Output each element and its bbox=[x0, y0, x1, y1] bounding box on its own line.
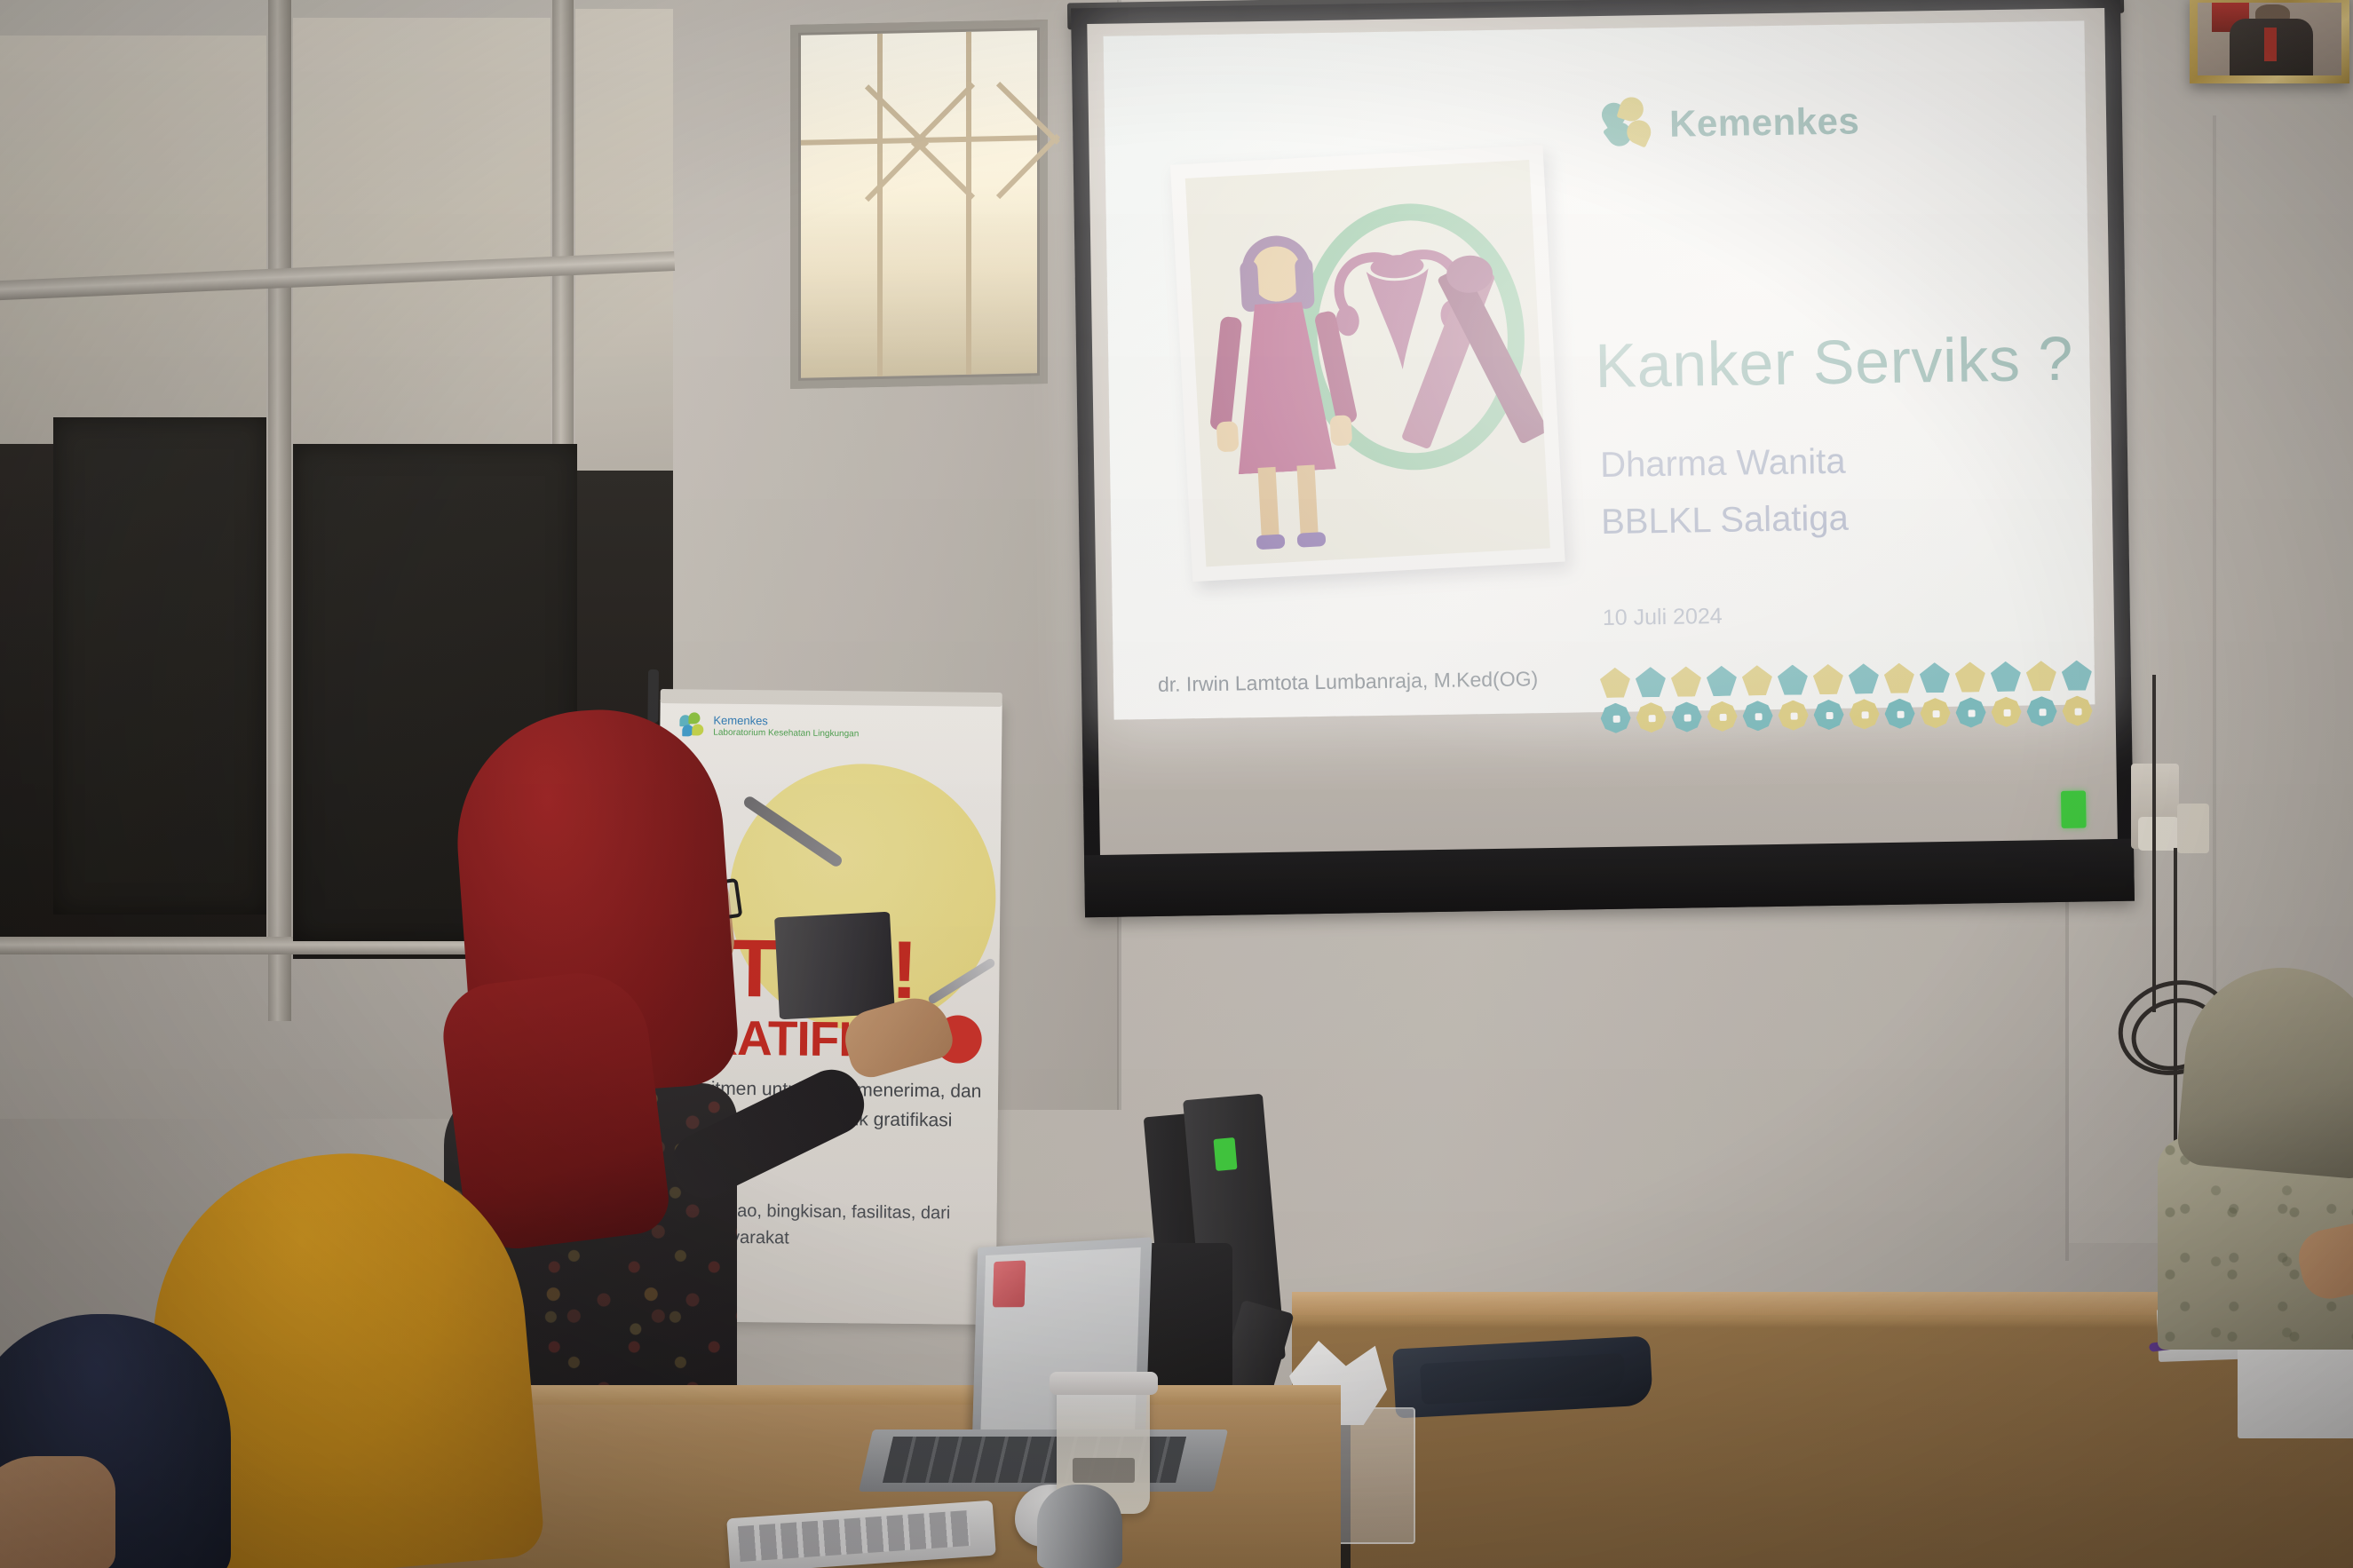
batik-motif bbox=[1707, 666, 1738, 697]
attendee-right bbox=[2158, 968, 2353, 1341]
illustration-canvas bbox=[1185, 160, 1550, 566]
batik-motif bbox=[1920, 662, 1951, 693]
woman-hand bbox=[1216, 421, 1240, 452]
batik-motif bbox=[2026, 661, 2057, 692]
partition-pane-glass bbox=[293, 18, 551, 462]
drink-cup-lid bbox=[1050, 1372, 1158, 1395]
power-plug[interactable] bbox=[2177, 804, 2209, 853]
batik-dot bbox=[1933, 710, 1940, 717]
batik-motif bbox=[2062, 660, 2093, 691]
window bbox=[790, 20, 1048, 389]
green-sticker bbox=[2061, 791, 2087, 828]
partition-pane-glass bbox=[0, 36, 266, 453]
framed-portrait bbox=[2190, 0, 2349, 83]
batik-dot bbox=[1826, 712, 1834, 719]
woman-hand bbox=[1329, 415, 1352, 446]
batik-dot bbox=[2004, 709, 2011, 717]
attendee-right-hijab bbox=[2175, 960, 2353, 1180]
batik-motif bbox=[1849, 663, 1880, 694]
batik-dot bbox=[1720, 714, 1727, 721]
woman-leg bbox=[1296, 465, 1318, 539]
batik-dot bbox=[1862, 711, 1869, 718]
window-bar bbox=[877, 34, 883, 376]
woman-shoe bbox=[1256, 534, 1286, 550]
partition-mullion bbox=[268, 0, 291, 1021]
batik-border-pattern bbox=[1599, 642, 2098, 739]
woman-shoe bbox=[1297, 532, 1327, 548]
woman-hair-side bbox=[1295, 257, 1315, 309]
slide-title: Kanker Serviks ? bbox=[1595, 323, 2074, 401]
batik-motif bbox=[1600, 668, 1631, 699]
green-sticker bbox=[1213, 1137, 1237, 1171]
window-glass bbox=[801, 30, 1037, 378]
portrait-photo bbox=[2198, 3, 2341, 75]
portrait-tie bbox=[2264, 28, 2278, 61]
batik-motif bbox=[1778, 664, 1809, 695]
woman-leg bbox=[1258, 467, 1279, 541]
drink-cup-label bbox=[1073, 1458, 1135, 1483]
slide-date: 10 Juli 2024 bbox=[1603, 604, 1723, 631]
batik-dot bbox=[1649, 715, 1656, 722]
dark-panel bbox=[53, 417, 266, 915]
batik-motif bbox=[1671, 666, 1702, 697]
kemenkes-wordmark: Kemenkes bbox=[1669, 99, 1860, 145]
slide-subtitle-line-2: BBLKL Salatiga bbox=[1601, 499, 1849, 542]
woman-arm bbox=[1209, 316, 1242, 432]
laptop-sticker bbox=[993, 1260, 1026, 1307]
kemenkes-clover-icon bbox=[1602, 97, 1658, 153]
batik-dot bbox=[1969, 709, 1976, 717]
batik-motif bbox=[1636, 667, 1667, 698]
batik-motif bbox=[1884, 663, 1915, 694]
projection-screen[interactable]: Kemenkes bbox=[1067, 0, 2138, 926]
partition-pane-glass bbox=[575, 9, 673, 471]
power-plug[interactable] bbox=[2138, 817, 2179, 851]
batik-motif bbox=[1955, 661, 1986, 693]
attendee-blue-face bbox=[0, 1456, 115, 1568]
batik-motif bbox=[1991, 661, 2022, 693]
hanging-cable bbox=[2152, 675, 2156, 1012]
slide-illustration bbox=[1170, 145, 1565, 582]
batik-dot bbox=[2040, 709, 2047, 716]
batik-dot bbox=[2075, 709, 2082, 716]
batik-dot bbox=[1755, 713, 1763, 720]
batik-dot bbox=[1791, 713, 1798, 720]
batik-dot bbox=[1897, 711, 1905, 718]
photo-scene: Kemenkes bbox=[0, 0, 2353, 1568]
batik-motif bbox=[1813, 664, 1844, 695]
projected-slide: Kemenkes bbox=[1103, 20, 2095, 719]
batik-motif bbox=[1742, 665, 1773, 696]
slide-subtitle-line-1: Dharma Wanita bbox=[1600, 442, 1846, 486]
kemenkes-logo: Kemenkes bbox=[1602, 93, 1860, 153]
banner-rail bbox=[661, 689, 1002, 707]
batik-dot bbox=[1613, 716, 1620, 723]
batik-dot bbox=[1684, 714, 1691, 721]
slide-author: dr. Irwin Lamtota Lumbanraja, M.Ked(OG) bbox=[1158, 667, 1539, 697]
thermos[interactable] bbox=[1037, 1485, 1122, 1568]
